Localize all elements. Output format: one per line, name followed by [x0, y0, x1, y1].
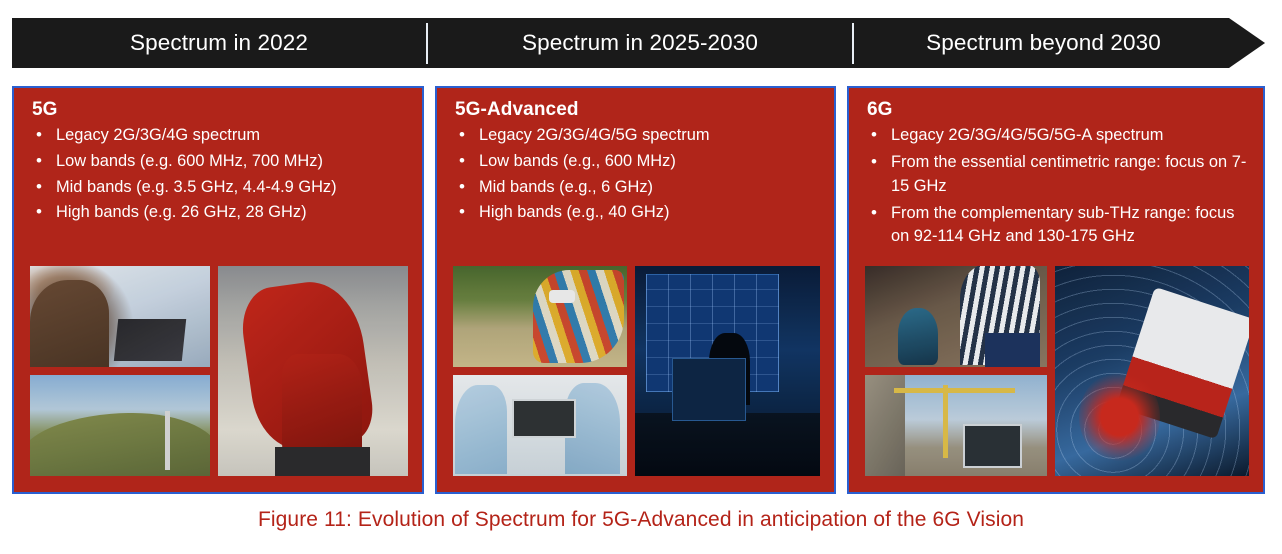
hammock-stripes-shape — [533, 270, 624, 363]
network-operations-center-photo — [635, 266, 820, 476]
construction-crane-tablet-photo — [865, 375, 1047, 476]
collage-right-column — [1055, 266, 1249, 476]
panel-title: 5G — [32, 99, 422, 121]
tower-mast-shape — [165, 411, 170, 470]
collage-right-column — [218, 266, 408, 476]
header-segments: Spectrum in 2022 Spectrum in 2025-2030 S… — [12, 18, 1265, 68]
robot-lower-arm-shape — [282, 354, 362, 463]
connected-tram-photo — [1055, 266, 1249, 476]
desk-monitor-shape — [672, 358, 746, 421]
network-diagram-lines-shape — [646, 274, 779, 392]
spectrum-evolution-figure: Spectrum in 2022 Spectrum in 2025-2030 S… — [0, 0, 1282, 554]
generation-panels: 5G Legacy 2G/3G/4G spectrum Low bands (e… — [12, 86, 1265, 494]
operator-desk-shape — [635, 413, 820, 476]
robot-upper-arm-shape — [237, 275, 377, 454]
panel-bullet-list: Legacy 2G/3G/4G spectrum Low bands (e.g.… — [14, 124, 422, 225]
list-item: Legacy 2G/3G/4G/5G/5G-A spectrum — [869, 124, 1249, 147]
industrial-robot-arm-photo — [218, 266, 408, 476]
list-item: Legacy 2G/3G/4G spectrum — [34, 124, 408, 147]
header-segment-label: Spectrum beyond 2030 — [926, 30, 1161, 56]
hill-shape — [30, 413, 210, 476]
vr-headset-shape — [549, 290, 575, 303]
person-silhouette-shape — [30, 280, 109, 367]
panel-title: 6G — [867, 99, 1263, 121]
striped-shirt-person-shape — [960, 266, 1040, 365]
list-item: Mid bands (e.g. 3.5 GHz, 4.4-4.9 GHz) — [34, 176, 408, 199]
surgery-monitor-shape — [512, 399, 575, 437]
cell-tower-on-hill-photo — [30, 375, 210, 476]
tram-body-shape — [1116, 287, 1249, 439]
header-segment-label: Spectrum in 2022 — [130, 30, 308, 56]
panel-6g: 6G Legacy 2G/3G/4G/5G/5G-A spectrum From… — [847, 86, 1265, 494]
surgeon-right-shape — [565, 383, 621, 474]
list-item: Low bands (e.g. 600 MHz, 700 MHz) — [34, 150, 408, 173]
crane-jib-shape — [894, 388, 1014, 393]
crane-mast-shape — [943, 385, 948, 458]
handheld-tablet-shape — [963, 424, 1022, 468]
connectivity-arcs-shape — [1055, 266, 1249, 476]
list-item: From the essential centimetric range: fo… — [869, 151, 1249, 198]
header-segment-label: Spectrum in 2025-2030 — [522, 30, 758, 56]
collage-left-column — [865, 266, 1047, 476]
surgeon-left-shape — [455, 385, 507, 474]
list-item: Low bands (e.g., 600 MHz) — [457, 150, 820, 173]
collage-left-column — [453, 266, 627, 476]
robotic-surgery-photo — [453, 375, 627, 476]
operator-silhouette-shape — [709, 333, 750, 404]
skirt-shape — [985, 333, 1040, 367]
header-segment-2025-2030: Spectrum in 2025-2030 — [428, 18, 852, 68]
rock-cliff-shape — [865, 375, 905, 476]
wall-display-shape — [646, 274, 779, 392]
panel-5g-advanced: 5G-Advanced Legacy 2G/3G/4G/5G spectrum … — [435, 86, 836, 494]
header-segment-beyond-2030: Spectrum beyond 2030 — [854, 18, 1233, 68]
panel-title: 5G-Advanced — [455, 99, 834, 121]
panel-5g: 5G Legacy 2G/3G/4G spectrum Low bands (e… — [12, 86, 424, 494]
robot-base-shape — [275, 447, 370, 476]
collage-right-column — [635, 266, 820, 476]
panel-photo-collage — [865, 266, 1249, 476]
hologram-avatar-shape — [898, 308, 938, 365]
list-item: High bands (e.g. 26 GHz, 28 GHz) — [34, 201, 408, 224]
header-segment-2022: Spectrum in 2022 — [12, 18, 426, 68]
list-item: From the complementary sub-THz range: fo… — [869, 202, 1249, 249]
list-item: High bands (e.g., 40 GHz) — [457, 201, 820, 224]
ar-hologram-doll-photo — [865, 266, 1047, 367]
vr-headset-hammock-photo — [453, 266, 627, 367]
panel-photo-collage — [30, 266, 408, 476]
person-with-tablet-photo — [30, 266, 210, 367]
timeline-header-bar: Spectrum in 2022 Spectrum in 2025-2030 S… — [12, 18, 1265, 68]
figure-caption: Figure 11: Evolution of Spectrum for 5G-… — [0, 508, 1282, 532]
panel-photo-collage — [453, 266, 820, 476]
collage-left-column — [30, 266, 210, 476]
red-sensor-glow-shape — [1079, 371, 1160, 463]
list-item: Mid bands (e.g., 6 GHz) — [457, 176, 820, 199]
tablet-screen-shape — [114, 319, 187, 361]
panel-bullet-list: Legacy 2G/3G/4G/5G spectrum Low bands (e… — [437, 124, 834, 225]
panel-bullet-list: Legacy 2G/3G/4G/5G/5G-A spectrum From th… — [849, 124, 1263, 248]
list-item: Legacy 2G/3G/4G/5G spectrum — [457, 124, 820, 147]
